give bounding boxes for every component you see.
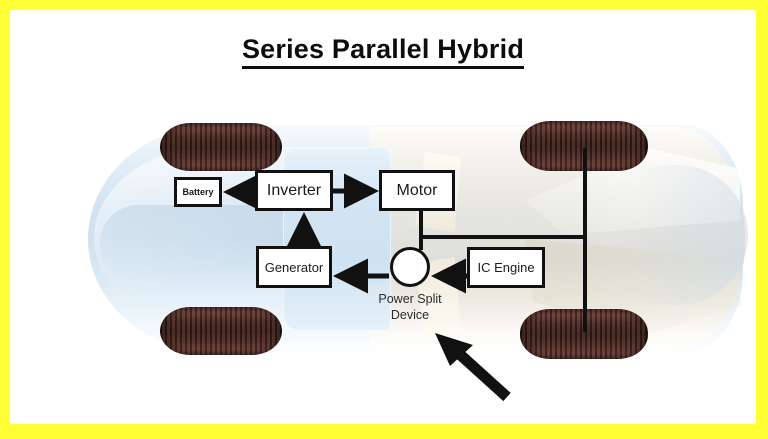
poster-canvas: Series Parallel Hybrid [10, 10, 756, 424]
power-split-device-pointer-icon [435, 333, 507, 397]
powertrain-diagram: Battery Inverter Motor Generator IC Engi… [10, 10, 756, 424]
annotation-arrow-layer [10, 10, 756, 424]
poster-frame: Series Parallel Hybrid [0, 0, 768, 439]
